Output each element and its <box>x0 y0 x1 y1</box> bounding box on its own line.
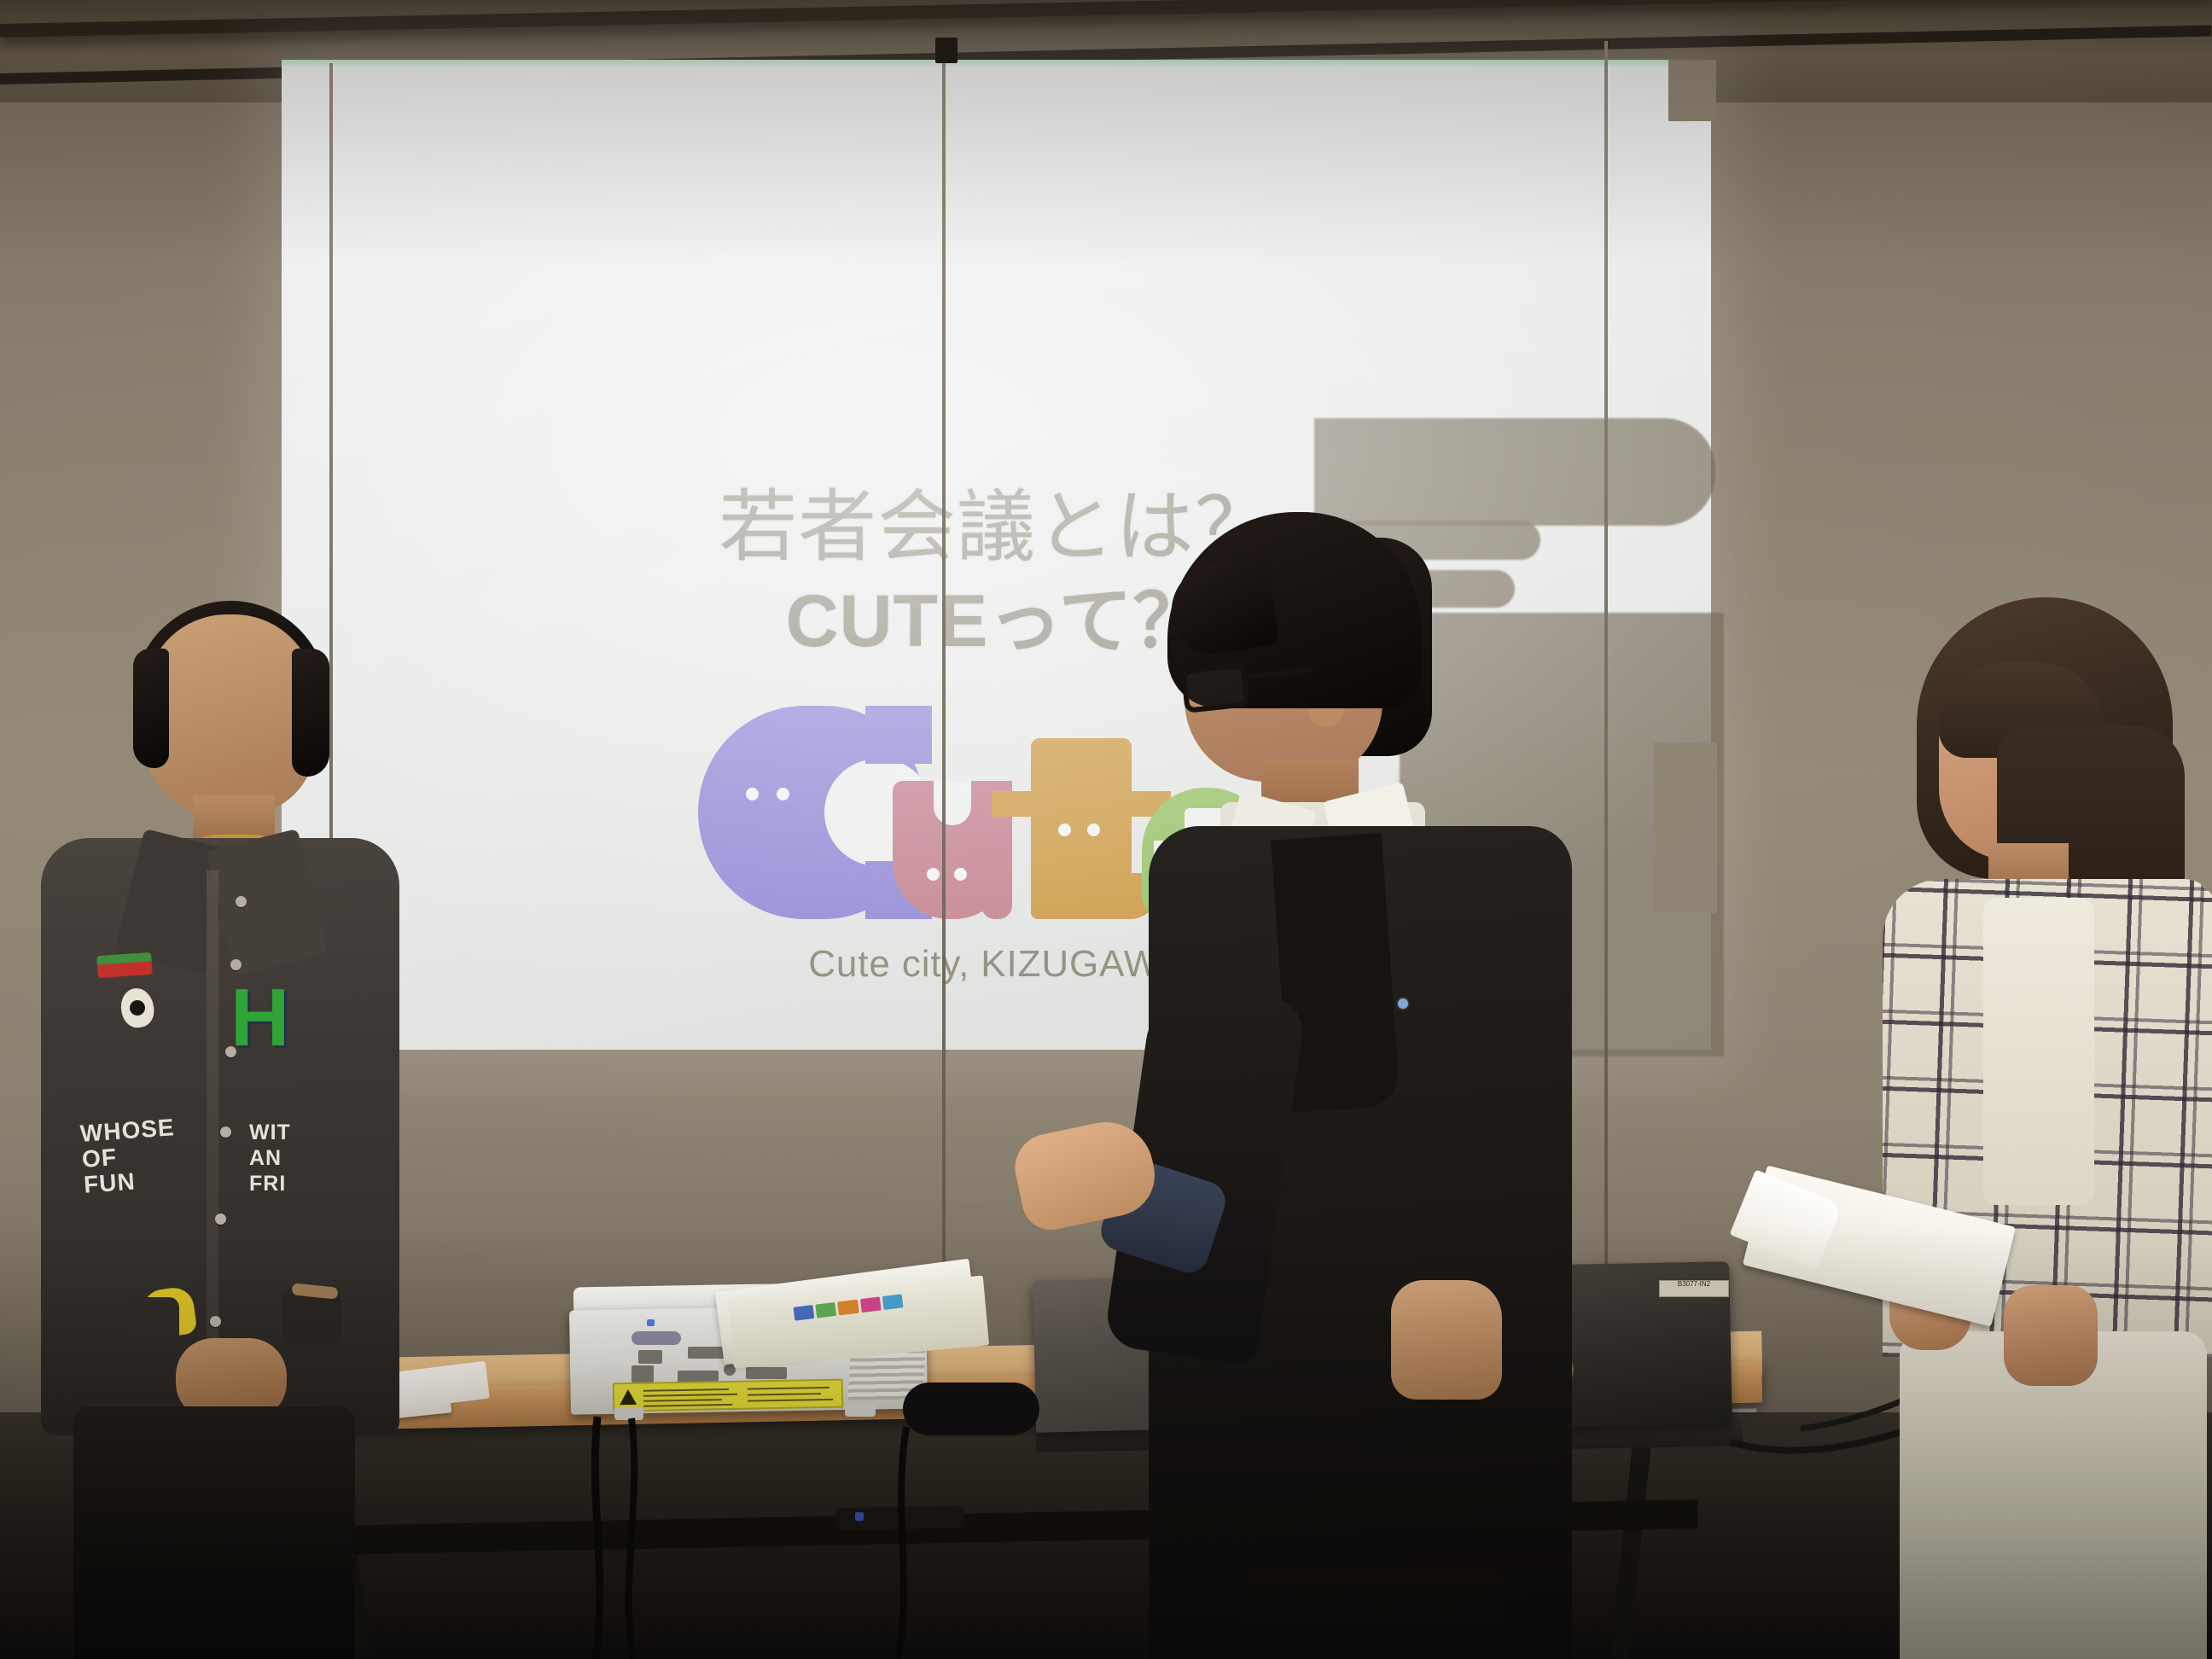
logo-letter-u-notch <box>934 781 971 825</box>
jacket-snap-2 <box>230 959 242 970</box>
logo-c-eye-left <box>746 788 759 800</box>
logo-u-eye-left <box>927 868 940 881</box>
person-center-presenter <box>1118 512 1596 1659</box>
partition-seam-cap <box>935 38 958 63</box>
handout-logo-swatch-cyan <box>882 1294 904 1310</box>
projector-laser-warning-label <box>613 1379 844 1412</box>
left-person-trousers <box>73 1406 355 1659</box>
handout-logo-swatch-pink <box>860 1296 882 1313</box>
person-left-participant: H WHOSEOFFUN WITANFRI <box>26 614 401 1659</box>
laptop-second-asset-label: B3077-IN2 <box>1659 1280 1729 1297</box>
projector-port-vga-3[interactable] <box>746 1367 787 1379</box>
left-person-head <box>145 614 316 815</box>
handout-logo-swatch-orange <box>838 1300 859 1316</box>
partition-seam-right <box>1604 41 1608 1417</box>
logo-letter-c-top <box>865 706 932 764</box>
projection-notch-upper <box>1668 60 1716 121</box>
warning-triangle-icon <box>620 1389 637 1405</box>
right-person-hand-right <box>2004 1285 2098 1386</box>
jacket-text-right: WITANFRI <box>249 1120 291 1196</box>
left-person-hair-side-left <box>133 649 169 768</box>
projector-port-lan[interactable] <box>632 1365 654 1382</box>
projector-foot-right <box>845 1403 876 1417</box>
person-right-participant <box>1895 597 2212 1659</box>
jacket-letter-h-patch: H <box>230 981 297 1063</box>
projector-power-led <box>647 1319 655 1326</box>
partition-seam-center <box>942 51 946 1451</box>
left-person-cuff-left <box>125 1297 179 1348</box>
handout-logo-swatch-green <box>816 1302 837 1318</box>
center-person-right-hand <box>1391 1280 1502 1400</box>
glasses-icon <box>1180 662 1249 713</box>
jacket-snap-5 <box>215 1214 226 1225</box>
center-person-trousers <box>1246 1570 1502 1659</box>
jacket-snap-1 <box>236 896 247 907</box>
left-person-jacket-placket <box>207 870 218 1417</box>
projector-control-panel <box>632 1331 681 1345</box>
jacket-text-left: WHOSEOFFUN <box>79 1115 179 1198</box>
logo-c-eye-right <box>777 788 789 800</box>
right-person-inner-top <box>1983 898 2094 1205</box>
power-strip-led <box>855 1512 864 1521</box>
left-person-hair-side-right <box>292 649 329 777</box>
projector-foot-left <box>614 1408 643 1420</box>
cable-coil <box>903 1382 1039 1435</box>
logo-u-eye-right <box>954 868 967 881</box>
jacket-snap-6 <box>210 1316 221 1327</box>
jacket-snap-4 <box>220 1126 231 1138</box>
presentation-photo-scene: 若者会議とは？ CUTEって？ <box>0 0 2212 1659</box>
logo-t-eye-right <box>1087 824 1100 836</box>
lapel-pin-icon <box>1398 998 1408 1009</box>
projector-port-hdmi[interactable] <box>638 1350 662 1364</box>
handout-logo-swatch-blue <box>794 1305 815 1321</box>
jacket-patch-red-green <box>96 952 153 978</box>
logo-t-eye-left <box>1058 824 1071 836</box>
projection-notch-mid <box>1654 742 1717 913</box>
